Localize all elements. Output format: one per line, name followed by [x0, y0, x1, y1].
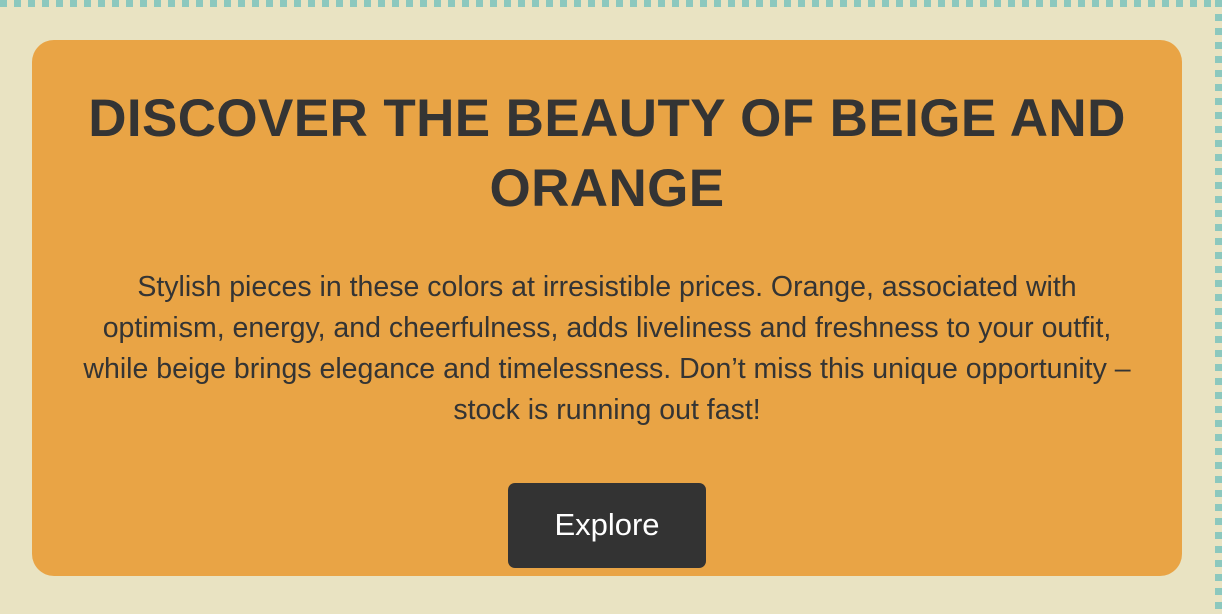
promo-description: Stylish pieces in these colors at irresi…	[73, 267, 1141, 431]
dashed-rule-top	[0, 0, 1222, 7]
promo-heading: Discover the beauty of beige and orange	[87, 84, 1127, 225]
promo-banner-card: Discover the beauty of beige and orange …	[32, 40, 1182, 576]
dashed-rule-right	[1215, 0, 1222, 614]
explore-button[interactable]: Explore	[508, 483, 705, 568]
